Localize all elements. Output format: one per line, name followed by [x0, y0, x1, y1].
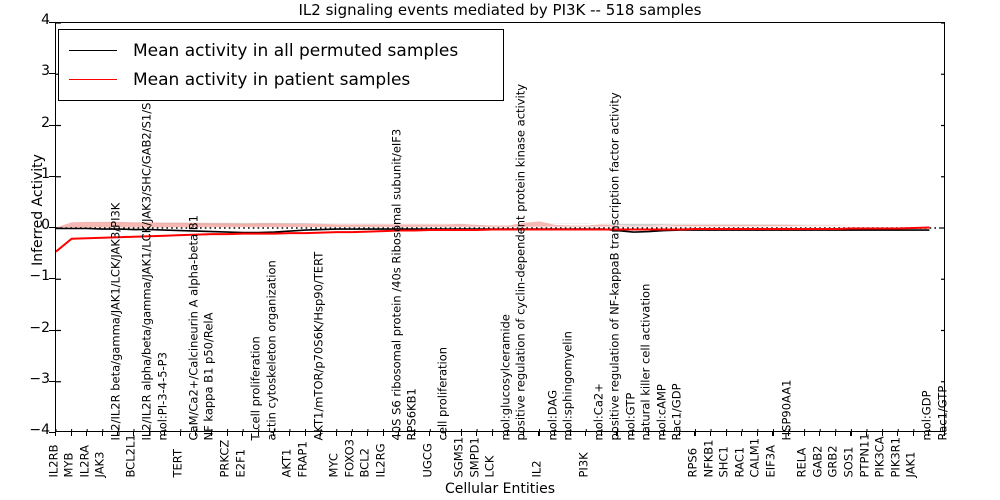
patient-confidence-band — [56, 221, 929, 227]
x-tick-mark — [164, 432, 165, 436]
x-tick-label: RELA — [797, 447, 809, 477]
x-tick-mark — [149, 432, 150, 436]
x-tick-mark — [554, 432, 555, 436]
x-tick-label: TERT — [173, 449, 185, 477]
chart-legend: Mean activity in all permuted samples Me… — [58, 29, 504, 101]
x-tick-mark — [585, 432, 586, 436]
x-tick-mark — [570, 432, 571, 436]
x-tick-label: BCL2L1 — [126, 434, 138, 477]
y-tick-label: 3 — [8, 64, 50, 78]
x-tick-mark — [195, 432, 196, 436]
x-axis-ticklabels: IL2RBMYBIL2RAJAK3BCL2L1TERTPRKCZE2F1AKT1… — [55, 432, 945, 480]
x-tick-mark — [102, 432, 103, 436]
legend-label-patient: Mean activity in patient samples — [133, 70, 410, 90]
y-tick-label: −3 — [8, 372, 50, 386]
x-tick-mark — [523, 432, 524, 436]
x-tick-label: JAK1 — [906, 451, 918, 477]
x-tick-mark — [804, 432, 805, 436]
x-tick-mark — [211, 432, 212, 436]
x-tick-label: FOXO3 — [344, 439, 356, 477]
x-tick-mark — [86, 432, 87, 436]
legend-item-patient[interactable]: Mean activity in patient samples — [59, 65, 503, 94]
x-tick-mark — [180, 432, 181, 436]
x-tick-mark — [258, 432, 259, 436]
x-tick-mark — [788, 432, 789, 436]
x-tick-mark — [726, 432, 727, 436]
x-tick-mark — [601, 432, 602, 436]
x-tick-mark — [398, 432, 399, 436]
x-tick-label: PI3K — [578, 452, 590, 477]
x-tick-label: IL2 — [531, 460, 543, 477]
x-tick-label: SMPD1 — [469, 437, 481, 477]
x-tick-label: CALM1 — [750, 437, 762, 477]
x-tick-mark — [757, 432, 758, 436]
x-tick-mark — [897, 432, 898, 436]
x-tick-mark — [367, 432, 368, 436]
y-tick-label: 2 — [8, 116, 50, 130]
x-tick-mark — [710, 432, 711, 436]
x-tick-label: JAK3 — [95, 451, 107, 477]
x-tick-mark — [663, 432, 664, 436]
legend-label-permuted: Mean activity in all permuted samples — [133, 41, 458, 61]
x-tick-mark — [305, 432, 306, 436]
x-tick-mark — [772, 432, 773, 436]
legend-swatch-patient — [69, 79, 117, 80]
chart-figure: IL2 signaling events mediated by PI3K --… — [0, 0, 1000, 500]
x-tick-label: GRB2 — [828, 445, 840, 477]
x-tick-mark — [679, 432, 680, 436]
x-tick-label: E2F1 — [235, 448, 247, 477]
x-tick-mark — [741, 432, 742, 436]
x-tick-mark — [71, 432, 72, 436]
legend-item-permuted[interactable]: Mean activity in all permuted samples — [59, 36, 503, 65]
y-tick-label: −1 — [8, 269, 50, 283]
x-tick-label: IL2RG — [376, 443, 388, 477]
x-tick-label: SHC1 — [719, 446, 731, 477]
x-tick-mark — [289, 432, 290, 436]
x-tick-mark — [273, 432, 274, 436]
x-tick-mark — [819, 432, 820, 436]
x-tick-label: PRKCZ — [220, 439, 232, 477]
x-tick-label: SGMS1 — [454, 436, 466, 477]
x-tick-mark — [461, 432, 462, 436]
y-axis-ticks: 43210−1−2−3−4 — [0, 22, 50, 432]
x-tick-label: PIK3R1 — [890, 437, 902, 478]
x-tick-label: UGCG — [422, 443, 434, 477]
x-tick-mark — [616, 432, 617, 436]
x-tick-label: IL2RA — [79, 444, 91, 477]
x-tick-mark — [242, 432, 243, 436]
x-tick-mark — [117, 432, 118, 436]
x-tick-label: SOS1 — [843, 446, 855, 477]
x-tick-mark — [429, 432, 430, 436]
x-tick-mark — [320, 432, 321, 436]
x-axis-label: Cellular Entities — [55, 481, 945, 497]
x-tick-mark — [351, 432, 352, 436]
x-tick-mark — [538, 432, 539, 436]
x-tick-mark — [944, 432, 945, 436]
y-tick-label: 1 — [8, 167, 50, 181]
x-tick-label: PIK3CA — [875, 436, 887, 477]
x-tick-mark — [383, 432, 384, 436]
y-tick-label: −2 — [8, 321, 50, 335]
x-tick-label: RAC1 — [734, 446, 746, 477]
x-tick-label: FRAP1 — [298, 441, 310, 477]
x-tick-label: BCL2 — [360, 448, 372, 477]
legend-swatch-permuted — [69, 50, 117, 51]
x-tick-mark — [336, 432, 337, 436]
x-tick-label: PTPN11 — [859, 433, 871, 477]
x-tick-label: NFKB1 — [703, 439, 715, 477]
x-tick-label: GAB2 — [812, 445, 824, 477]
x-tick-label: MYB — [64, 452, 76, 477]
x-tick-mark — [632, 432, 633, 436]
y-tick-label: 0 — [8, 218, 50, 232]
x-tick-label: MYC — [329, 453, 341, 477]
x-tick-mark — [648, 432, 649, 436]
y-tick-label: 4 — [8, 13, 50, 27]
x-tick-mark — [882, 432, 883, 436]
x-tick-mark — [492, 432, 493, 436]
x-tick-label: LCK — [485, 455, 497, 477]
x-tick-mark — [850, 432, 851, 436]
x-tick-mark — [913, 432, 914, 436]
x-tick-mark — [227, 432, 228, 436]
x-tick-mark — [694, 432, 695, 436]
x-tick-mark — [414, 432, 415, 436]
x-tick-mark — [835, 432, 836, 436]
x-tick-mark — [445, 432, 446, 436]
x-tick-label: AKT1 — [282, 448, 294, 477]
x-tick-mark — [928, 432, 929, 436]
x-tick-mark — [507, 432, 508, 436]
x-tick-mark — [476, 432, 477, 436]
x-tick-label: EIF3A — [765, 445, 777, 477]
y-tick-label: −4 — [8, 423, 50, 437]
page-title: IL2 signaling events mediated by PI3K --… — [55, 1, 945, 19]
x-tick-label: RPS6 — [687, 447, 699, 477]
x-tick-mark — [55, 432, 56, 436]
x-tick-label: IL2RB — [48, 444, 60, 477]
